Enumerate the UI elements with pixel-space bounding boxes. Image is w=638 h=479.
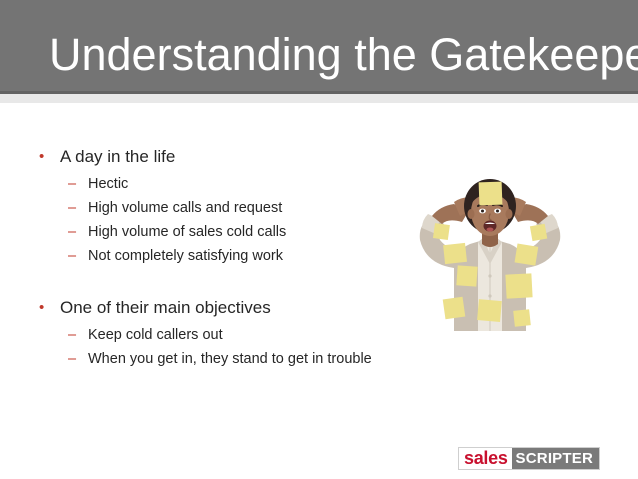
dash-icon: – xyxy=(68,196,76,220)
bullet-item-level2: – Hectic xyxy=(30,172,390,196)
dash-icon: – xyxy=(68,172,76,196)
bullet-item-level2: – When you get in, they stand to get in … xyxy=(30,347,390,371)
stressed-woman-illustration xyxy=(398,168,582,331)
bullet-dot-icon: • xyxy=(39,143,44,170)
dash-icon: – xyxy=(68,347,76,371)
bullet-label: Hectic xyxy=(88,176,128,192)
title-underband xyxy=(0,94,638,103)
bullet-item-level2: – High volume calls and request xyxy=(30,196,390,220)
bullet-item-level1: • One of their main objectives xyxy=(30,294,390,321)
bullet-label: Not completely satisfying work xyxy=(88,248,283,264)
dash-icon: – xyxy=(68,323,76,347)
bullet-dot-icon: • xyxy=(39,294,44,321)
salesscripter-logo: sales SCRIPTER xyxy=(458,447,600,470)
stressed-woman-photo xyxy=(398,168,582,331)
bullet-item-level2: – High volume of sales cold calls xyxy=(30,220,390,244)
bullet-label: When you get in, they stand to get in tr… xyxy=(88,351,372,367)
bullet-group-spacer xyxy=(30,268,390,294)
bullet-label: High volume calls and request xyxy=(88,200,282,216)
dash-icon: – xyxy=(68,220,76,244)
bullet-list: • A day in the life – Hectic – High volu… xyxy=(30,143,390,371)
bullet-item-level1: • A day in the life xyxy=(30,143,390,170)
bullet-group: • One of their main objectives – Keep co… xyxy=(30,294,390,371)
dash-icon: – xyxy=(68,244,76,268)
bullet-item-level2: – Keep cold callers out xyxy=(30,323,390,347)
slide: Understanding the Gatekeeper • A day in … xyxy=(0,0,638,479)
bullet-label: High volume of sales cold calls xyxy=(88,224,286,240)
bullet-group: • A day in the life – Hectic – High volu… xyxy=(30,143,390,268)
bullet-label: A day in the life xyxy=(60,147,175,166)
bullet-label: One of their main objectives xyxy=(60,298,271,317)
bullet-label: Keep cold callers out xyxy=(88,327,223,343)
logo-sales-text: sales xyxy=(459,448,512,469)
bullet-item-level2: – Not completely satisfying work xyxy=(30,244,390,268)
page-title: Understanding the Gatekeeper xyxy=(49,28,638,81)
logo-scripter-text: SCRIPTER xyxy=(512,448,599,469)
